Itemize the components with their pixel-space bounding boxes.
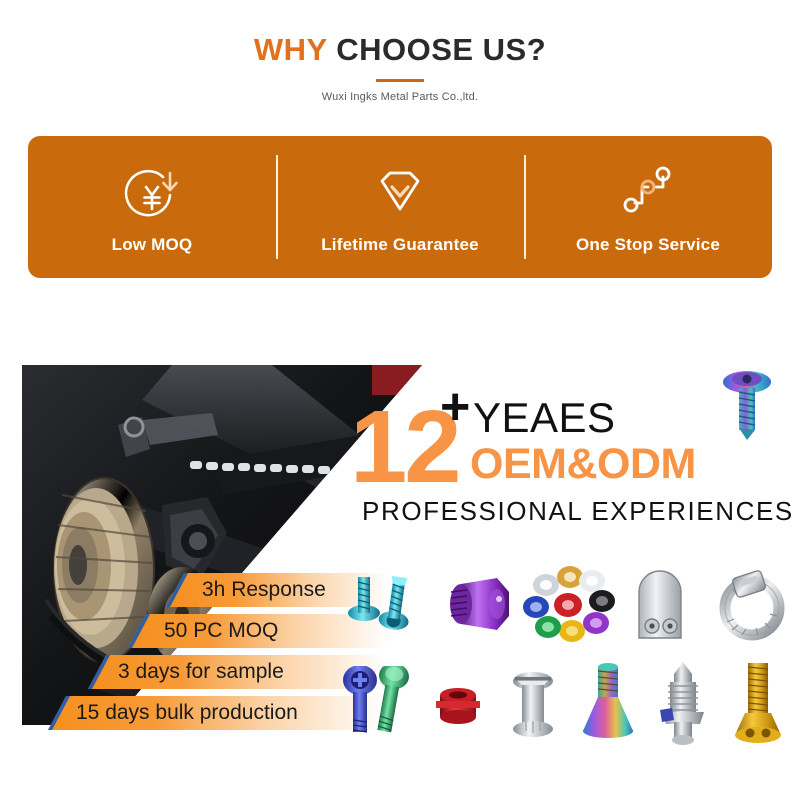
oem-odm-label: OEM&ODM — [470, 443, 696, 486]
product-showcase — [345, 555, 795, 760]
feature-bar-label: 3h Response — [202, 578, 326, 602]
page-title: WHY CHOOSE US? — [0, 34, 800, 65]
feature-bar-label: 50 PC MOQ — [164, 619, 278, 643]
red-anodized-nut — [420, 655, 495, 753]
plus-sign: + — [440, 381, 470, 433]
page-title-highlight: WHY — [254, 32, 327, 67]
banner-item-one-stop-service[interactable]: One Stop Service — [524, 136, 772, 278]
banner-item-low-moq[interactable]: Low MOQ — [28, 136, 276, 278]
title-underline-rule — [376, 79, 424, 82]
headline-block: 12 + YEAES OEM&ODM PROFESSIONAL EXPERIEN… — [340, 385, 780, 555]
gold-anodized-flange-bolt — [720, 655, 795, 753]
multicolor-countersunk-washers — [525, 555, 615, 653]
product-row-2 — [345, 655, 795, 753]
banner-item-label: Lifetime Guarantee — [321, 235, 479, 255]
stainless-hose-clamp — [705, 555, 795, 653]
diamond-chevron-down-icon — [364, 159, 436, 231]
feature-bar-label: 15 days bulk production — [76, 701, 298, 725]
marketing-banner-page: WHY CHOOSE US? Wuxi Ingks Metal Parts Co… — [0, 0, 800, 800]
page-title-rest: CHOOSE US? — [327, 32, 546, 67]
rainbow-titanium-flange-bolt — [570, 655, 645, 753]
silver-metal-bracket — [615, 555, 705, 653]
banner-item-label: One Stop Service — [576, 235, 720, 255]
teal-self-tapping-screws — [345, 555, 435, 653]
purple-anodized-flange-nut — [435, 555, 525, 653]
page-header: WHY CHOOSE US? Wuxi Ingks Metal Parts Co… — [0, 0, 800, 125]
professional-experiences-tagline: PROFESSIONAL EXPERIENCES — [362, 498, 794, 524]
banner-item-lifetime-guarantee[interactable]: Lifetime Guarantee — [276, 136, 524, 278]
rainbow-titanium-flange-screw — [716, 366, 778, 444]
feature-bar-label: 3 days for sample — [118, 660, 284, 684]
product-row-1 — [345, 555, 795, 653]
lower-section: 12 + YEAES OEM&ODM PROFESSIONAL EXPERIEN… — [0, 355, 800, 775]
silver-chicago-screw — [495, 655, 570, 753]
banner-item-label: Low MOQ — [112, 235, 193, 255]
company-subtitle: Wuxi Ingks Metal Parts Co.,ltd. — [0, 91, 800, 103]
years-word: YEAES — [473, 397, 616, 439]
yen-circle-down-arrow-icon — [116, 159, 188, 231]
blue-green-anodized-bolts — [345, 655, 420, 753]
feature-banner: Low MOQ Lifetime Guarantee — [28, 136, 772, 278]
silver-bleed-nipple-valve — [645, 655, 720, 753]
connected-nodes-icon — [612, 159, 684, 231]
